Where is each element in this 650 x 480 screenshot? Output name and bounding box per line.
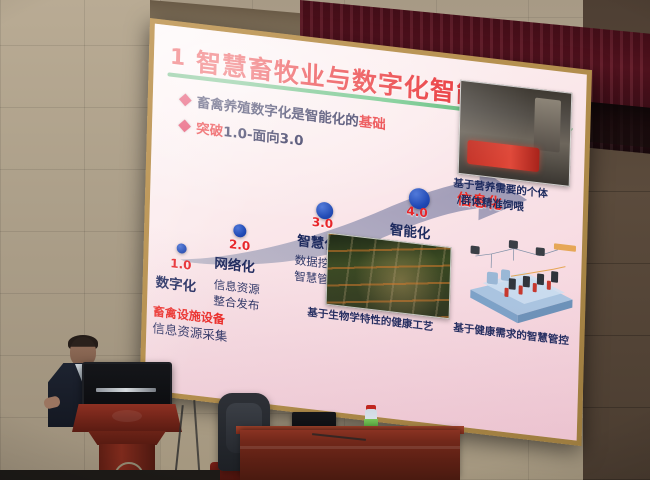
- podium: [72, 404, 182, 480]
- presentation-scene: 1 智慧畜牧业与数字化智能化 中国农业大学 China Agricultural…: [0, 0, 650, 480]
- photo-poultry-house: [326, 233, 452, 320]
- stage-1-version: 1.0: [170, 256, 192, 273]
- stage-dot-1: [177, 243, 187, 254]
- slide-surface: 1 智慧畜牧业与数字化智能化 中国农业大学 China Agricultural…: [145, 24, 587, 441]
- slide-section-number: 1: [170, 44, 186, 71]
- diamond-bullet-icon: [178, 119, 191, 132]
- bullet-1-highlight: 基础: [359, 114, 386, 133]
- screen-frame: 1 智慧畜牧业与数字化智能化 中国农业大学 China Agricultural…: [139, 18, 592, 446]
- projection-screen: 1 智慧畜牧业与数字化智能化 中国农业大学 China Agricultural…: [139, 18, 592, 446]
- stage-2-name: 网络化: [214, 251, 255, 276]
- photo-precision-feeding: [458, 80, 573, 187]
- diamond-bullet-icon: [179, 93, 192, 106]
- diagram-smart-barn: [460, 224, 583, 330]
- floor: [0, 470, 220, 480]
- stage-2-version: 2.0: [229, 237, 251, 254]
- podium-neck: [88, 431, 166, 445]
- stage-1-name: 数字化: [155, 271, 196, 296]
- podium-top: [72, 404, 182, 432]
- podium-emblem: [112, 410, 142, 422]
- stage-4-version: 4.0: [406, 204, 428, 221]
- stage-3-version: 3.0: [312, 215, 334, 232]
